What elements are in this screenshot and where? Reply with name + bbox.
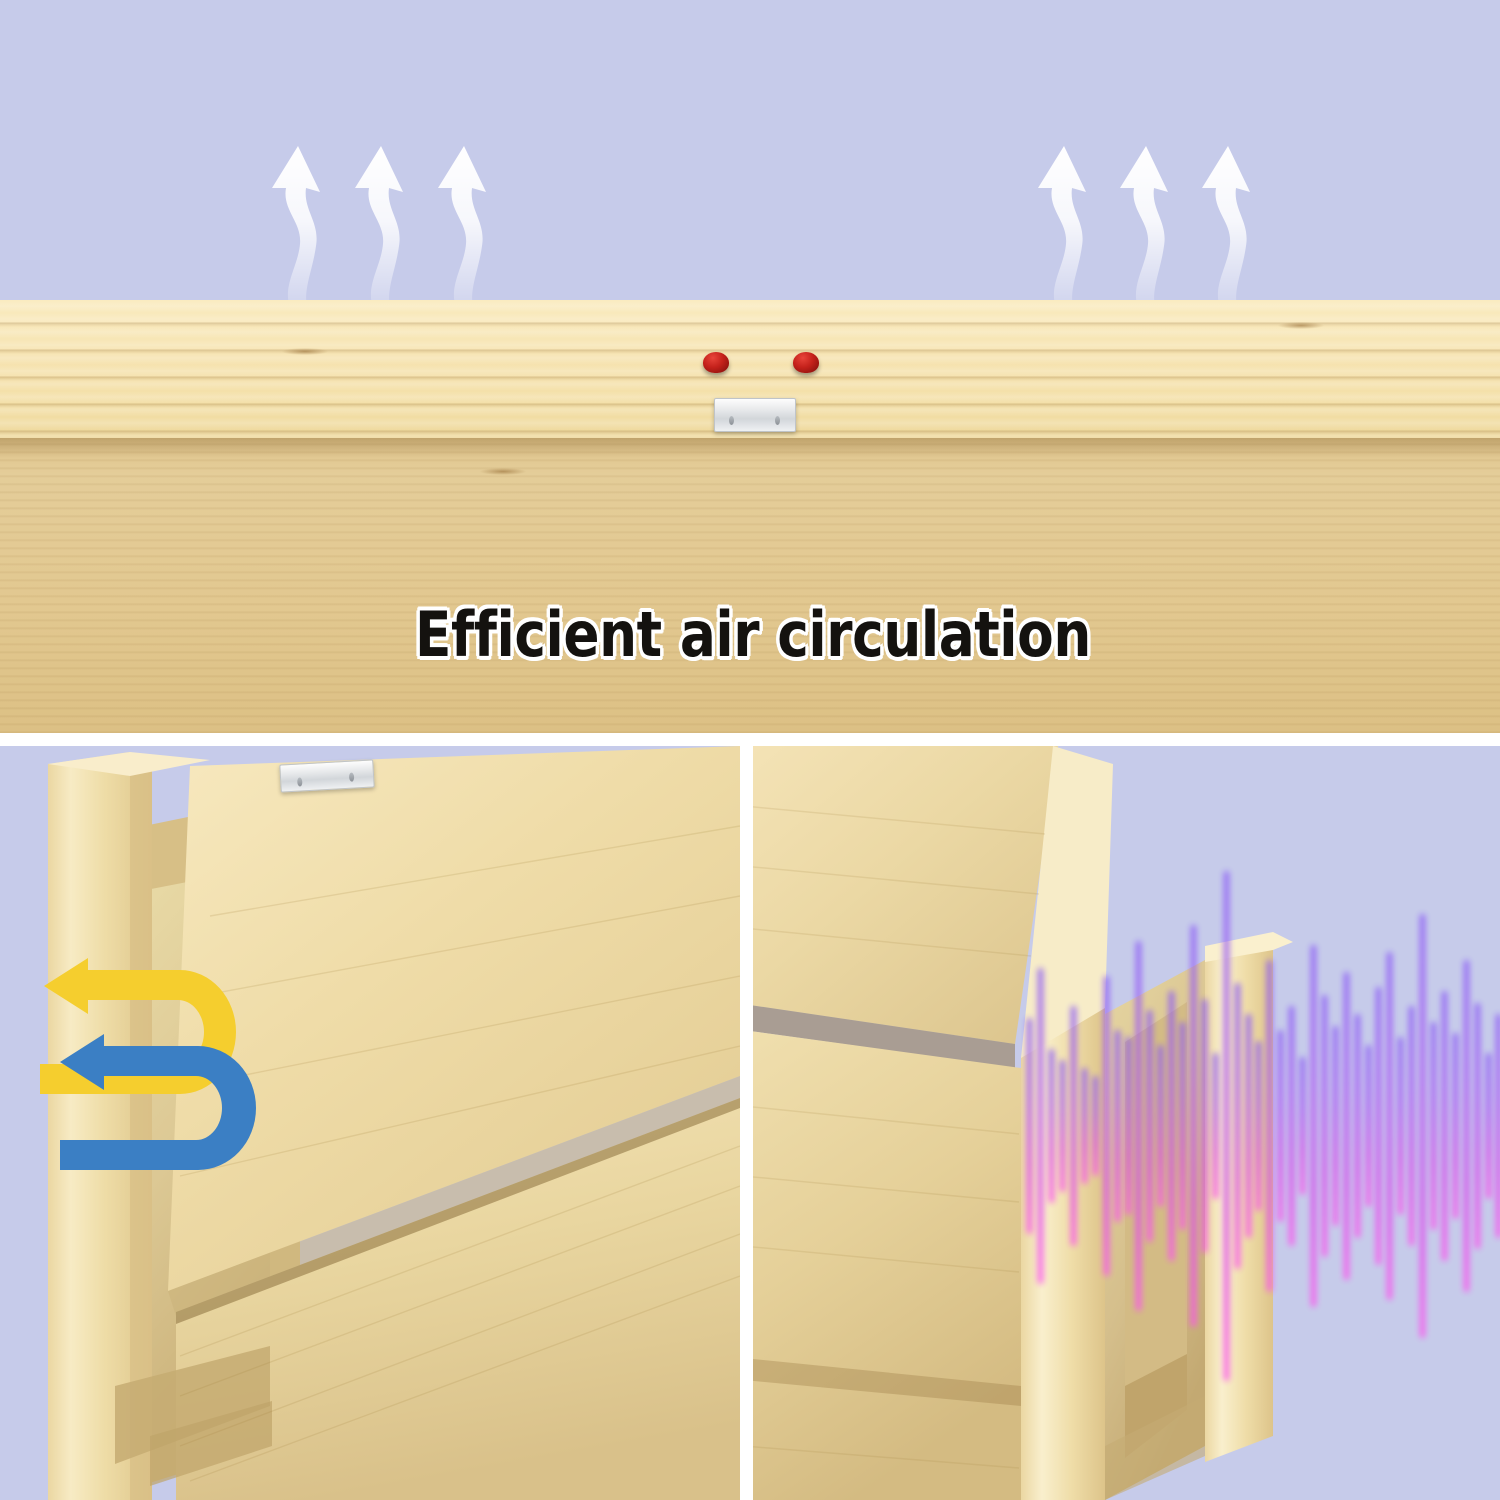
sound-wave-bar (1333, 1026, 1338, 1227)
sound-wave-bar (1213, 1053, 1218, 1200)
sound-wave-bar (1420, 914, 1425, 1338)
sound-wave-bar (1027, 1018, 1032, 1234)
sound-wave-bar (1126, 1037, 1131, 1214)
sound-wave-bar (1496, 1014, 1500, 1238)
sound-wave-bar (1409, 1006, 1414, 1245)
sound-wave-bar (1289, 1006, 1294, 1245)
panel-acoustic-insulation: Excellent acoustic insulation (753, 746, 1500, 1500)
sound-waveform-icon (1025, 918, 1500, 1318)
sound-wave-bar (1082, 1068, 1087, 1184)
sound-wave-bar (1475, 1003, 1480, 1250)
sound-wave-bar (1322, 995, 1327, 1257)
sound-wave-bar (1169, 991, 1174, 1261)
heat-arrow-icon (428, 118, 498, 313)
metal-mounting-plate (279, 759, 374, 792)
cabinet-edge-shadow (0, 438, 1500, 458)
sound-wave-bar (1256, 1041, 1261, 1211)
sound-wave-bar (1387, 952, 1392, 1299)
sound-wave-bar (1049, 1049, 1054, 1203)
heat-arrow-icon (1192, 118, 1262, 313)
sound-wave-bar (1442, 991, 1447, 1261)
wood-grain-knot (1278, 322, 1324, 329)
sound-wave-bar (1355, 1014, 1360, 1238)
panel-heat-retention: Exceptional heat retention (0, 746, 740, 1500)
heat-arrow-icon (1028, 118, 1098, 313)
sound-wave-bar (1202, 999, 1207, 1254)
sound-wave-bar (1147, 1010, 1152, 1241)
sound-wave-bar (1060, 1060, 1065, 1191)
sound-wave-bar (1136, 941, 1141, 1311)
indicator-led-left (703, 352, 729, 373)
sound-wave-bar (1224, 871, 1229, 1380)
heat-arrow-icon (345, 118, 415, 313)
wood-grain-knot (282, 348, 328, 355)
panel-air-circulation: Efficient air circulation (0, 0, 1500, 733)
heat-arrow-icon (1110, 118, 1180, 313)
sound-wave-bar (1191, 925, 1196, 1326)
caption-air-circulation: Efficient air circulation (415, 598, 1091, 671)
sound-wave-bar (1398, 1037, 1403, 1214)
infographic-board: Efficient air circulation (0, 0, 1500, 1500)
indicator-led-right (793, 352, 819, 373)
sound-wave-bar (1093, 1076, 1098, 1176)
screw-hole (775, 416, 780, 425)
sound-wave-bar (1038, 968, 1043, 1284)
sound-wave-bar (1486, 1053, 1491, 1200)
sound-wave-bar (1246, 1014, 1251, 1238)
sound-wave-bar (1104, 976, 1109, 1277)
sound-wave-bar (1366, 1045, 1371, 1207)
sound-wave-bar (1071, 1006, 1076, 1245)
sound-wave-bar (1376, 987, 1381, 1265)
sound-wave-bar (1464, 960, 1469, 1292)
screw-hole (729, 416, 734, 425)
sound-wave-bar (1235, 983, 1240, 1268)
sound-wave-bar (1300, 1057, 1305, 1196)
screw-hole (349, 772, 354, 781)
sound-wave-bar (1431, 1022, 1436, 1230)
cabinet-front-face (0, 438, 1500, 733)
metal-mounting-plate (714, 398, 796, 432)
screw-hole (297, 777, 302, 786)
sound-wave-bar (1158, 1045, 1163, 1207)
sound-wave-bar (1267, 960, 1272, 1292)
wood-grain-knot (480, 468, 526, 475)
heat-arrow-icon (262, 118, 332, 313)
sound-wave-bar (1278, 1030, 1283, 1223)
heat-recirculation-arrows-icon (30, 954, 280, 1214)
sound-wave-bar (1180, 1022, 1185, 1230)
sound-wave-bar (1344, 972, 1349, 1281)
sound-wave-bar (1453, 1033, 1458, 1218)
sound-wave-bar (1115, 1030, 1120, 1223)
sound-wave-bar (1311, 945, 1316, 1308)
